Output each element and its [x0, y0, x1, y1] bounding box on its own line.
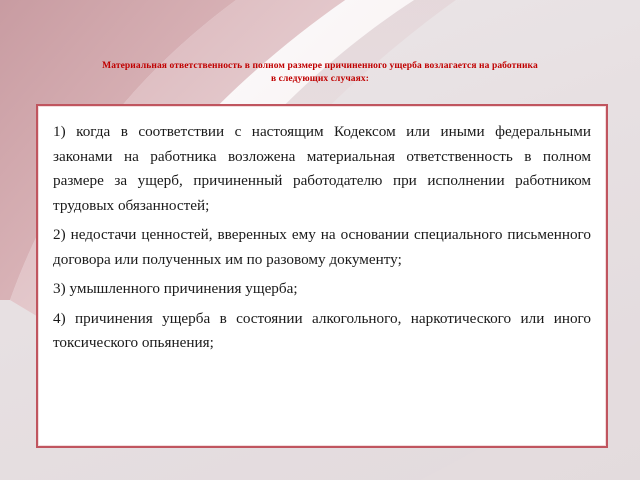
title-line-1: Материальная ответственность в полном ра…: [36, 60, 604, 73]
content-box: 1) когда в соответствии с настоящим Коде…: [36, 104, 608, 448]
slide: Материальная ответственность в полном ра…: [0, 0, 640, 480]
content-body: 1) когда в соответствии с настоящим Коде…: [38, 106, 606, 366]
list-item: 1) когда в соответствии с настоящим Коде…: [53, 120, 591, 218]
list-item: 2) недостачи ценностей, вверенных ему на…: [53, 223, 591, 272]
list-item: 3) умышленного причинения ущерба;: [53, 277, 591, 302]
title-line-2: в следующих случаях:: [36, 73, 604, 86]
list-item: 4) причинения ущерба в состоянии алкогол…: [53, 307, 591, 356]
slide-title: Материальная ответственность в полном ра…: [36, 60, 604, 86]
